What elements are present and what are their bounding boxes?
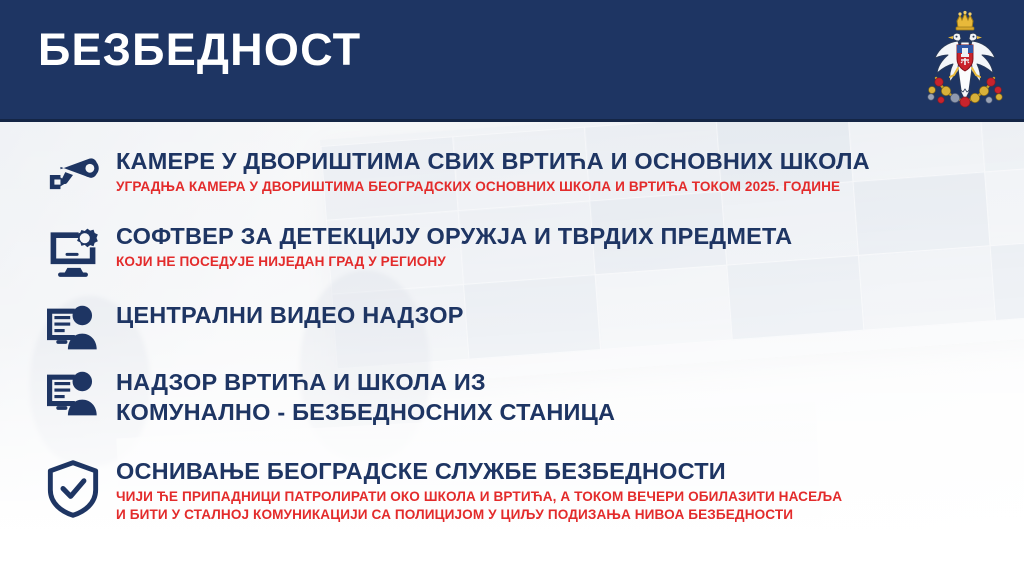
operator-monitor-icon [30,301,116,355]
list-item-title: КАМЕРЕ У ДВОРИШТИМА СВИХ ВРТИЋА И ОСНОВН… [116,147,1010,175]
list-item-subtitle: ЧИЈИ ЋЕ ПРИПАДНИЦИ ПАТРОЛИРАТИ ОКО ШКОЛА… [116,488,1010,506]
cctv-camera-icon [30,147,116,203]
monitor-gear-icon [30,222,116,280]
list-item: КАМЕРЕ У ДВОРИШТИМА СВИХ ВРТИЋА И ОСНОВН… [30,147,1010,203]
list-item: СОФТВЕР ЗА ДЕТЕКЦИЈУ ОРУЖЈА И ТВРДИХ ПРЕ… [30,222,1010,280]
list-item: ОСНИВАЊЕ БЕОГРАДСКЕ СЛУЖБЕ БЕЗБЕДНОСТИ Ч… [30,457,1010,524]
list-item-title: ОСНИВАЊЕ БЕОГРАДСКЕ СЛУЖБЕ БЕЗБЕДНОСТИ [116,457,1010,485]
page-title: БЕЗБЕДНОСТ [38,27,361,72]
list-item-text: КАМЕРЕ У ДВОРИШТИМА СВИХ ВРТИЋА И ОСНОВН… [116,147,1010,196]
list-item-text: ОСНИВАЊЕ БЕОГРАДСКЕ СЛУЖБЕ БЕЗБЕДНОСТИ Ч… [116,457,1010,524]
coat-of-arms-of-belgrade-icon [922,8,1008,112]
list-item-text: ЦЕНТРАЛНИ ВИДЕО НАДЗОР [116,301,1010,329]
list-item-title: СОФТВЕР ЗА ДЕТЕКЦИЈУ ОРУЖЈА И ТВРДИХ ПРЕ… [116,222,1010,250]
list-item-text: НАДЗОР ВРТИЋА И ШКОЛА ИЗ КОМУНАЛНО - БЕЗ… [116,367,1010,427]
list-item-subtitle: КОЈИ НЕ ПОСЕДУЈЕ НИЈЕДАН ГРАД У РЕГИОНУ [116,253,1010,271]
list-item: ЦЕНТРАЛНИ ВИДЕО НАДЗОР [30,301,1010,355]
list-item-subtitle: УГРАДЊА КАМЕРА У ДВОРИШТИМА БЕОГРАДСКИХ … [116,178,1010,196]
bullet-list: КАМЕРЕ У ДВОРИШТИМА СВИХ ВРТИЋА И ОСНОВН… [0,119,1024,576]
list-item-subtitle-line2: И БИТИ У СТАЛНОЈ КОМУНИКАЦИЈИ СА ПОЛИЦИЈ… [116,506,1010,524]
operator-monitor-icon [30,367,116,421]
shield-check-icon [30,457,116,519]
header-band: БЕЗБЕДНОСТ [0,0,1024,119]
list-item: НАДЗОР ВРТИЋА И ШКОЛА ИЗ КОМУНАЛНО - БЕЗ… [30,367,1010,427]
list-item-text: СОФТВЕР ЗА ДЕТЕКЦИЈУ ОРУЖЈА И ТВРДИХ ПРЕ… [116,222,1010,271]
list-item-title: ЦЕНТРАЛНИ ВИДЕО НАДЗОР [116,301,1010,329]
list-item-title-line1: НАДЗОР ВРТИЋА И ШКОЛА ИЗ [116,367,1010,397]
list-item-title-line2: КОМУНАЛНО - БЕЗБЕДНОСНИХ СТАНИЦА [116,397,1010,427]
slide-root: БЕЗБЕДНОСТ [0,0,1024,576]
